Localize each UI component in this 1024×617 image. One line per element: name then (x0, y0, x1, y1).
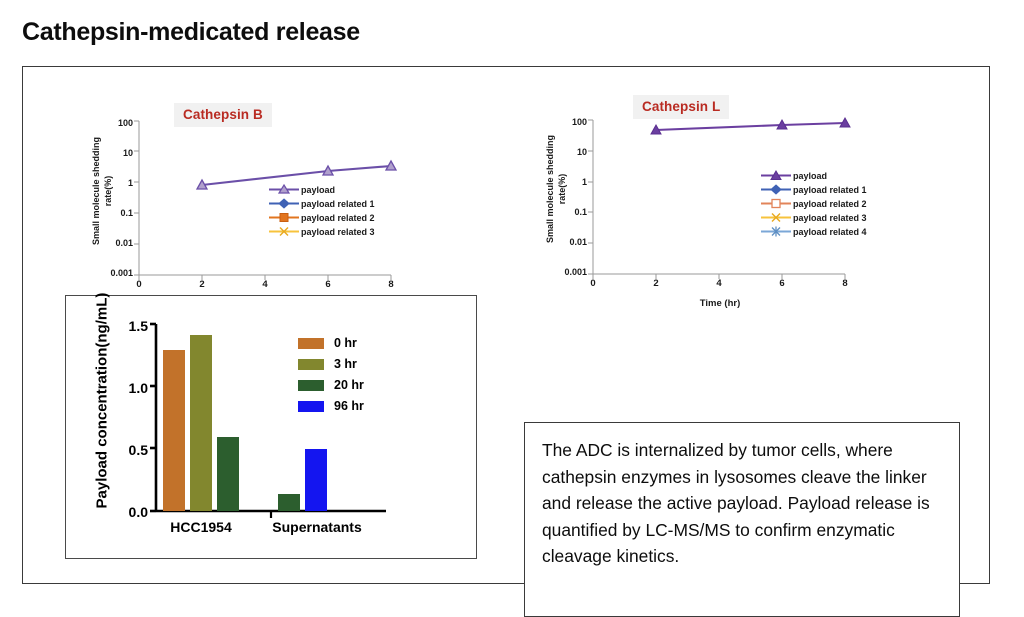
description-paragraph: The ADC is internalized by tumor cells, … (542, 437, 942, 570)
legend-marker-diamond-icon (269, 197, 299, 210)
legend-label: payload (301, 185, 335, 195)
page-title: Cathepsin-medicated release (22, 18, 360, 47)
legend-item: payload related 4 (761, 225, 867, 238)
legend-label: payload related 3 (301, 227, 375, 237)
legend-bar-chart: 0 hr 3 hr 20 hr 96 hr (298, 336, 364, 420)
legend-item: 3 hr (298, 357, 364, 371)
legend-item: payload related 2 (269, 211, 375, 224)
legend-item: 0 hr (298, 336, 364, 350)
legend-label: payload related 2 (301, 213, 375, 223)
chart-payload-concentration: Payload concentration(ng/mL) 1.5 1.0 0.5… (65, 295, 477, 559)
legend-cathepsin-l: payload payload related 1 (761, 169, 867, 239)
axis-label-x-cathepsin-l: Time (hr) (655, 298, 785, 309)
legend-label: 20 hr (334, 378, 364, 392)
bar-hcc1954-20hr (217, 437, 239, 511)
legend-marker-square-open-icon (761, 197, 791, 210)
xtick-cathepsin-b: 6 (316, 279, 340, 290)
legend-item: 20 hr (298, 378, 364, 392)
legend-marker-cross-icon (761, 211, 791, 224)
legend-marker-cross-icon (269, 225, 299, 238)
legend-swatch-3hr-icon (298, 359, 324, 370)
legend-label: payload related 3 (793, 213, 867, 223)
xtick-cathepsin-l: 4 (707, 278, 731, 289)
chart-cathepsin-b: Cathepsin B Small molecule sheddingrate(… (61, 83, 461, 318)
legend-label: 3 hr (334, 357, 357, 371)
bar-category-label: Supernatants (252, 519, 382, 535)
slide-root: Cathepsin-medicated release Cathepsin B … (0, 0, 1024, 609)
xtick-cathepsin-l: 8 (833, 278, 857, 289)
description-textbox: The ADC is internalized by tumor cells, … (524, 422, 960, 617)
legend-item: payload related 3 (269, 225, 375, 238)
legend-label: payload related 1 (793, 185, 867, 195)
legend-cathepsin-b: payload payload related 1 (269, 183, 375, 239)
legend-item: payload related 1 (761, 183, 867, 196)
legend-marker-triangle-open-icon (269, 183, 299, 196)
legend-item: payload related 1 (269, 197, 375, 210)
xtick-cathepsin-b: 4 (253, 279, 277, 290)
legend-item: payload related 3 (761, 211, 867, 224)
bar-supernatants-96hr (305, 449, 327, 511)
legend-marker-diamond-icon (761, 183, 791, 196)
xtick-cathepsin-l: 0 (581, 278, 605, 289)
chart-cathepsin-l: Cathepsin L Small molecule sheddingrate(… (513, 77, 933, 317)
legend-label: 0 hr (334, 336, 357, 350)
xtick-cathepsin-b: 8 (379, 279, 403, 290)
bar-category-label: HCC1954 (151, 519, 251, 535)
legend-marker-triangle-filled-icon (761, 169, 791, 182)
content-frame: Cathepsin B Small molecule sheddingrate(… (22, 66, 990, 584)
legend-swatch-0hr-icon (298, 338, 324, 349)
legend-item: payload (269, 183, 375, 196)
legend-label: 96 hr (334, 399, 364, 413)
legend-label: payload related 2 (793, 199, 867, 209)
legend-marker-asterisk-icon (761, 225, 791, 238)
legend-swatch-20hr-icon (298, 380, 324, 391)
xtick-cathepsin-b: 2 (190, 279, 214, 290)
xtick-cathepsin-l: 2 (644, 278, 668, 289)
legend-item: 96 hr (298, 399, 364, 413)
legend-label: payload related 1 (301, 199, 375, 209)
legend-swatch-96hr-icon (298, 401, 324, 412)
legend-label: payload (793, 171, 827, 181)
legend-item: payload related 2 (761, 197, 867, 210)
xtick-cathepsin-b: 0 (127, 279, 151, 290)
bar-hcc1954-3hr (190, 335, 212, 511)
legend-item: payload (761, 169, 867, 182)
xtick-cathepsin-l: 6 (770, 278, 794, 289)
legend-marker-square-icon (269, 211, 299, 224)
bar-supernatants-20hr (278, 494, 300, 511)
bar-hcc1954-0hr (163, 350, 185, 511)
legend-label: payload related 4 (793, 227, 867, 237)
